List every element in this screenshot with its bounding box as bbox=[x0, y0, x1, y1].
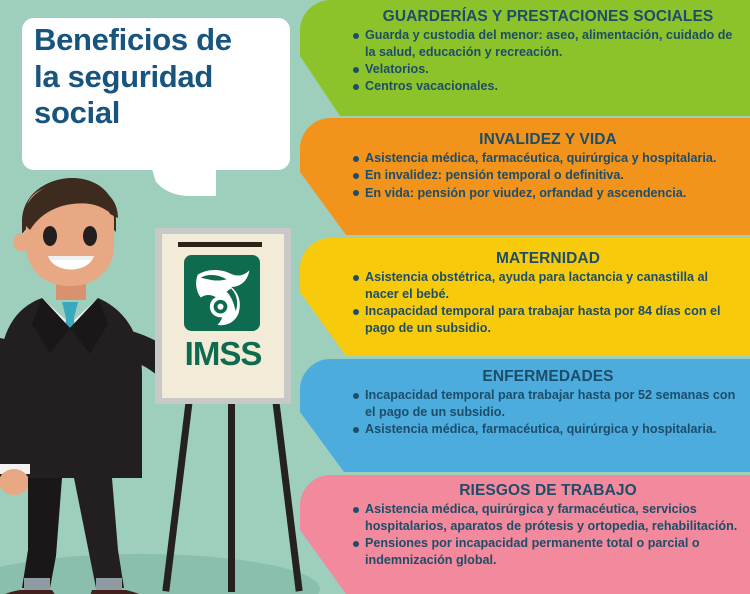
section-enfermedades: ENFERMEDADES Incapacidad temporal para t… bbox=[352, 368, 744, 438]
list-item: Asistencia médica, quirúrgica y farmacéu… bbox=[352, 501, 744, 534]
imss-eagle-icon bbox=[184, 253, 260, 333]
section-items: Incapacidad temporal para trabajar hasta… bbox=[352, 387, 744, 438]
page-title: Beneficios de la seguridad social bbox=[34, 22, 284, 132]
list-item: Asistencia médica, farmacéutica, quirúrg… bbox=[352, 421, 744, 438]
section-items: Guarda y custodia del menor: aseo, alime… bbox=[352, 27, 744, 95]
list-item: Incapacidad temporal para trabajar hasta… bbox=[352, 303, 744, 336]
imss-wordmark: IMSS bbox=[170, 335, 276, 373]
section-items: Asistencia médica, farmacéutica, quirúrg… bbox=[352, 150, 744, 201]
list-item: Velatorios. bbox=[352, 61, 744, 78]
imss-logo: IMSS bbox=[170, 240, 276, 380]
section-riesgos: RIESGOS DE TRABAJO Asistencia médica, qu… bbox=[352, 482, 744, 569]
title-line-3: social bbox=[34, 95, 284, 132]
section-invalidez: INVALIDEZ Y VIDA Asistencia médica, farm… bbox=[352, 131, 744, 202]
list-item: Centros vacacionales. bbox=[352, 78, 744, 95]
list-item: Guarda y custodia del menor: aseo, alime… bbox=[352, 27, 744, 60]
section-items: Asistencia obstétrica, ayuda para lactan… bbox=[352, 269, 744, 336]
section-title: RIESGOS DE TRABAJO bbox=[352, 482, 744, 499]
section-maternidad: MATERNIDAD Asistencia obstétrica, ayuda … bbox=[352, 250, 744, 337]
section-title: GUARDERÍAS Y PRESTACIONES SOCIALES bbox=[352, 8, 744, 25]
title-line-2: la seguridad bbox=[34, 59, 284, 96]
title-line-1: Beneficios de bbox=[34, 22, 284, 59]
list-item: Asistencia obstétrica, ayuda para lactan… bbox=[352, 269, 744, 302]
list-item: Pensiones por incapacidad permanente tot… bbox=[352, 535, 744, 568]
list-item: En vida: pensión por viudez, orfandad y … bbox=[352, 185, 744, 202]
list-item: Incapacidad temporal para trabajar hasta… bbox=[352, 387, 744, 420]
list-item: Asistencia médica, farmacéutica, quirúrg… bbox=[352, 150, 744, 167]
section-title: INVALIDEZ Y VIDA bbox=[352, 131, 744, 148]
section-title: MATERNIDAD bbox=[352, 250, 744, 267]
logo-top-bar bbox=[178, 242, 262, 247]
section-guarderias: GUARDERÍAS Y PRESTACIONES SOCIALES Guard… bbox=[352, 8, 744, 95]
infographic-canvas: IMSS Beneficios de la seguridad social G… bbox=[0, 0, 750, 594]
section-title: ENFERMEDADES bbox=[352, 368, 744, 385]
list-item: En invalidez: pensión temporal o definit… bbox=[352, 167, 744, 184]
section-items: Asistencia médica, quirúrgica y farmacéu… bbox=[352, 501, 744, 568]
